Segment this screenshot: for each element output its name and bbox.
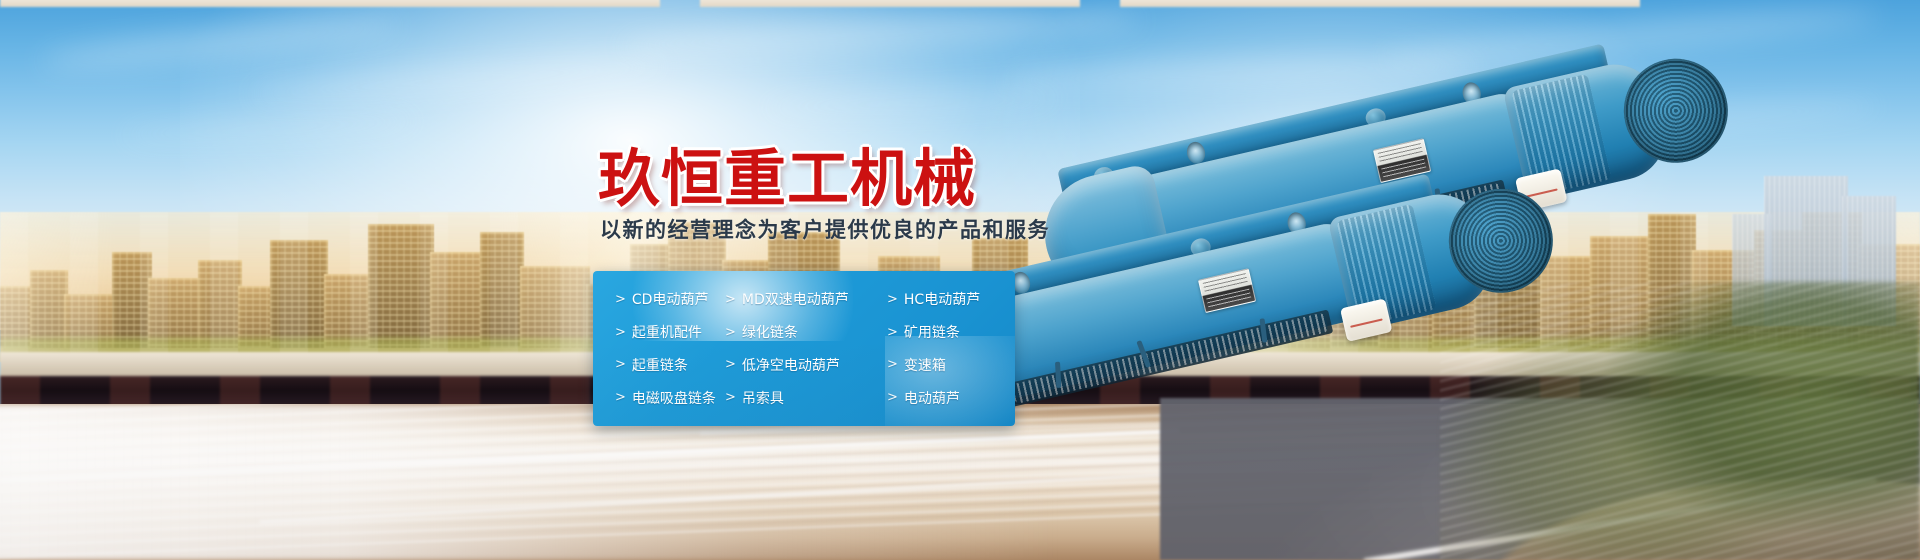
product-link-label: 绿化链条 <box>742 322 798 342</box>
product-link-slings[interactable]: > 吊索具 <box>725 388 865 408</box>
product-link-label: 电动葫芦 <box>904 388 960 408</box>
chevron-right-icon: > <box>887 292 898 307</box>
product-link-hc-hoist[interactable]: > HC电动葫芦 <box>865 289 1015 309</box>
product-link-label: 电磁吸盘链条 <box>632 388 716 408</box>
product-link-electric-hoist[interactable]: > 电动葫芦 <box>865 388 1015 408</box>
banner-headline: 玖恒重工机械 <box>598 128 976 218</box>
product-link-md-dual-speed-hoist[interactable]: > MD双速电动葫芦 <box>725 289 865 309</box>
product-link-label: MD双速电动葫芦 <box>742 289 849 309</box>
product-link-lifting-chain[interactable]: > 起重链条 <box>615 355 725 375</box>
product-link-label: CD电动葫芦 <box>632 289 709 309</box>
banner-subheadline: 以新的经营理念为客户提供优良的产品和服务 <box>600 214 1050 244</box>
product-link-label: 矿用链条 <box>904 322 960 342</box>
chevron-right-icon: > <box>725 390 736 405</box>
chevron-right-icon: > <box>615 357 626 372</box>
product-link-gearbox[interactable]: > 变速箱 <box>865 355 1015 375</box>
product-link-label: 变速箱 <box>904 355 946 375</box>
product-link-mining-chain[interactable]: > 矿用链条 <box>865 322 1015 342</box>
chevron-right-icon: > <box>725 357 736 372</box>
product-link-label: 起重机配件 <box>632 322 702 342</box>
product-link-crane-parts[interactable]: > 起重机配件 <box>615 322 725 342</box>
product-link-low-headroom-hoist[interactable]: > 低净空电动葫芦 <box>725 355 865 375</box>
chevron-right-icon: > <box>887 325 898 340</box>
product-links-panel: > CD电动葫芦 > MD双速电动葫芦 > HC电动葫芦 > 起重机配件 > 绿… <box>593 271 1015 426</box>
chevron-right-icon: > <box>725 325 736 340</box>
product-links-grid: > CD电动葫芦 > MD双速电动葫芦 > HC电动葫芦 > 起重机配件 > 绿… <box>593 271 1015 426</box>
chevron-right-icon: > <box>725 292 736 307</box>
chevron-right-icon: > <box>615 390 626 405</box>
chevron-right-icon: > <box>887 390 898 405</box>
hero-banner: 玖恒重工机械 以新的经营理念为客户提供优良的产品和服务 > CD电动葫芦 > M… <box>0 0 1920 560</box>
product-link-magnetic-chuck-chain[interactable]: > 电磁吸盘链条 <box>615 388 725 408</box>
chevron-right-icon: > <box>615 292 626 307</box>
product-link-cd-hoist[interactable]: > CD电动葫芦 <box>615 289 725 309</box>
product-link-greening-chain[interactable]: > 绿化链条 <box>725 322 865 342</box>
chevron-right-icon: > <box>887 357 898 372</box>
product-link-label: HC电动葫芦 <box>904 289 980 309</box>
chevron-right-icon: > <box>615 325 626 340</box>
product-link-label: 低净空电动葫芦 <box>742 355 840 375</box>
product-link-label: 起重链条 <box>632 355 688 375</box>
product-link-label: 吊索具 <box>742 388 784 408</box>
